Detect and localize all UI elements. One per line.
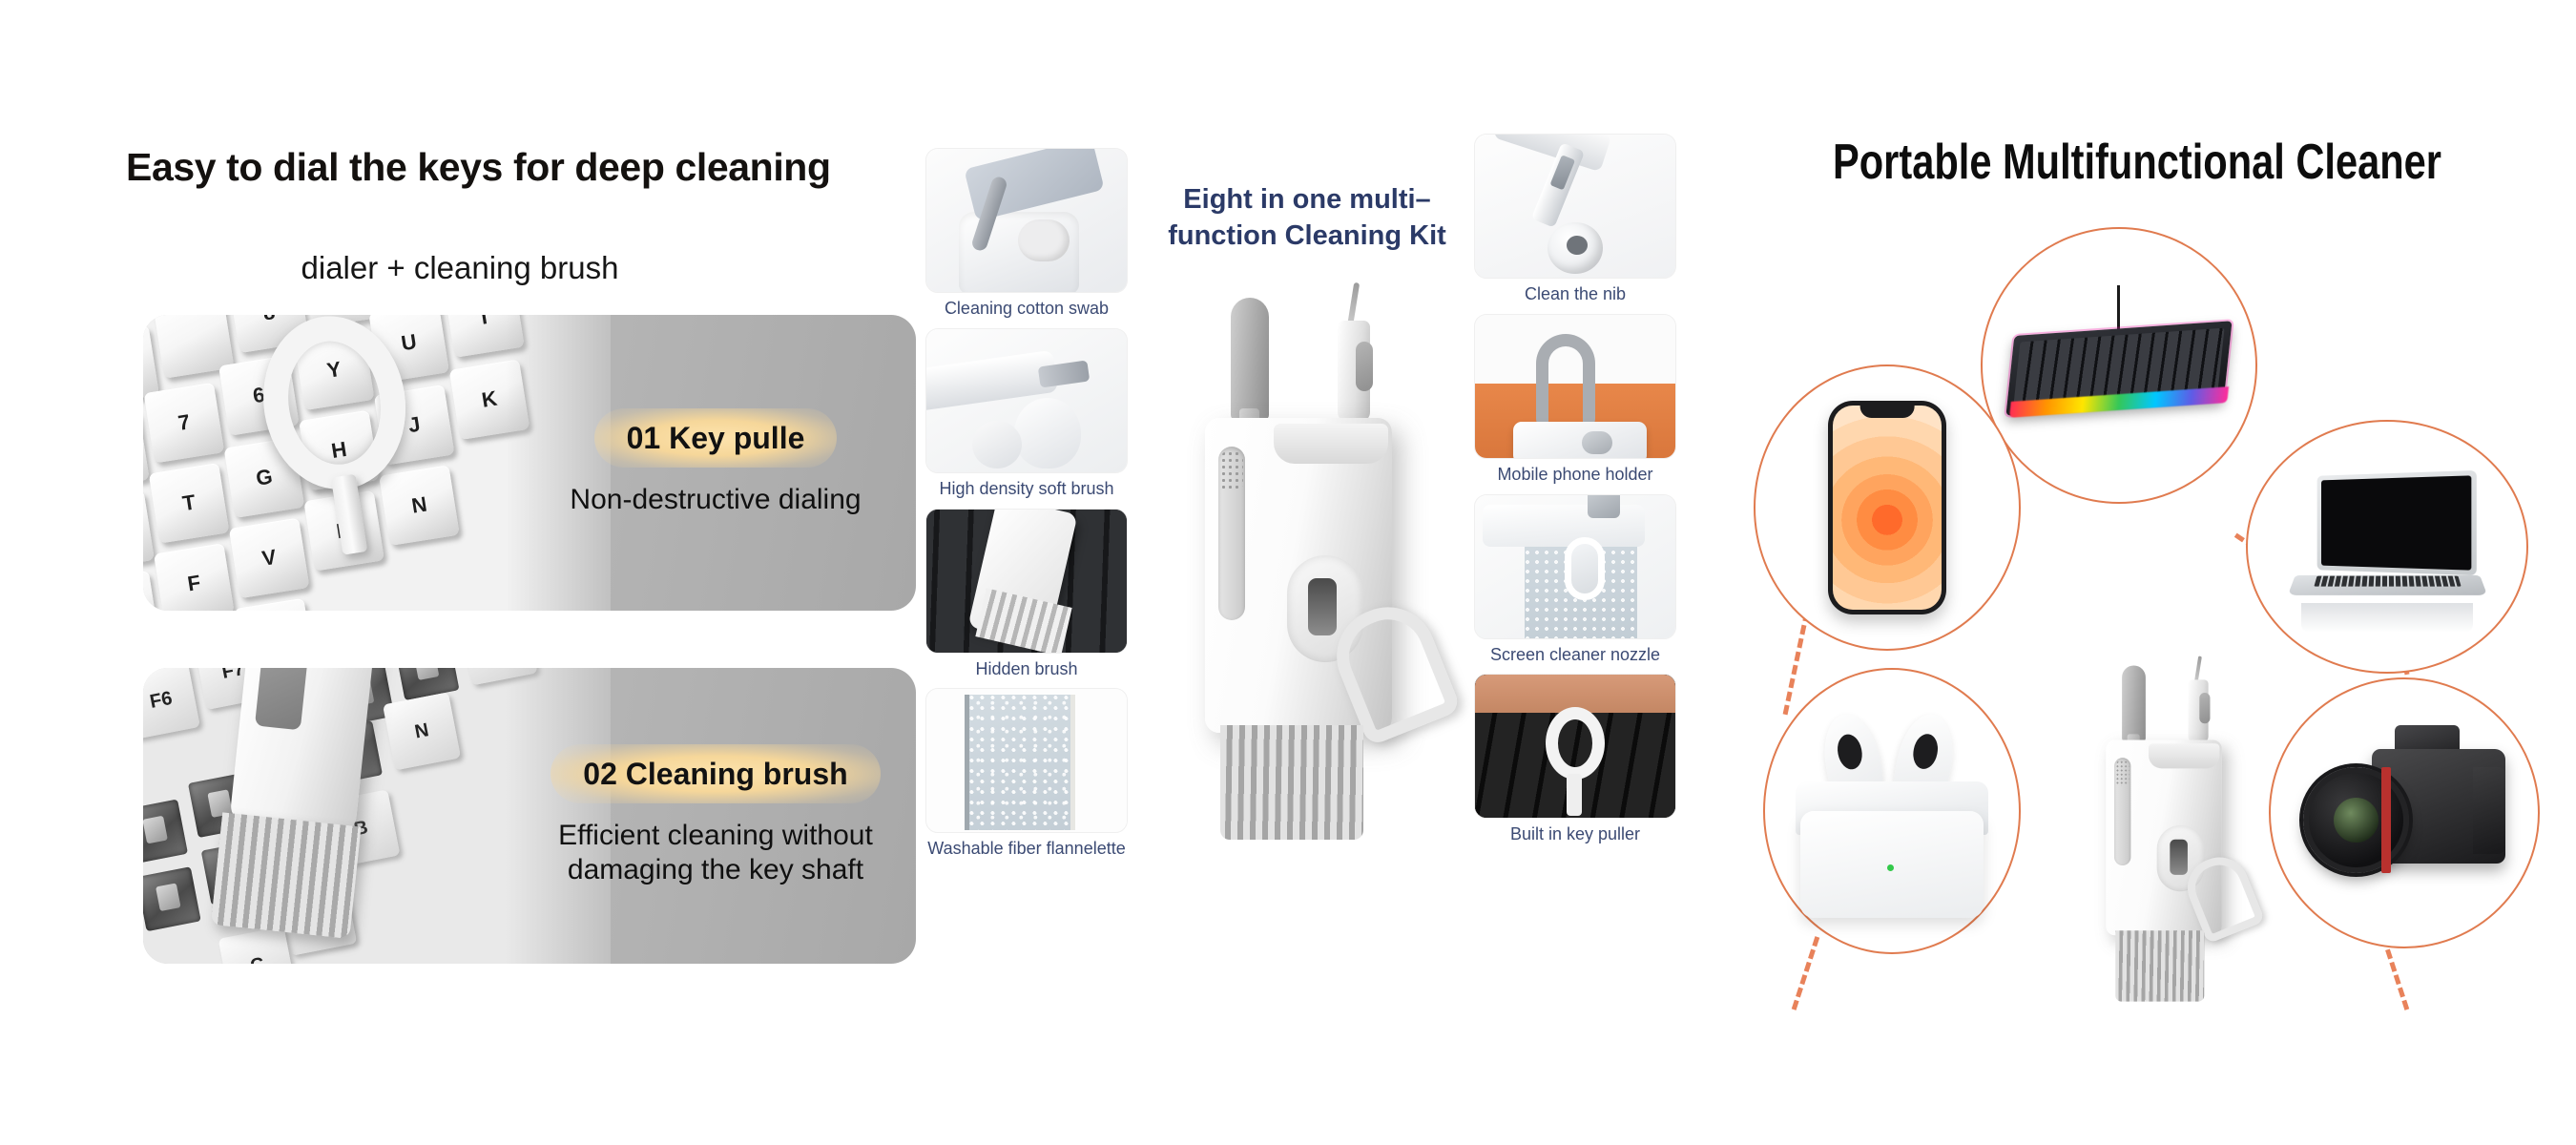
card-1-description: Non-destructive dialing <box>570 483 861 517</box>
thumb-caption: Screen cleaner nozzle <box>1474 639 1676 665</box>
thumbnail-washable-fiber-flannelette: Washable fiber flannelette <box>925 688 1128 859</box>
hero-product-right <box>2089 658 2196 913</box>
left-feature-panel: Easy to dial the keys for deep cleaning … <box>0 0 935 1145</box>
bottom-brush <box>1220 725 1363 840</box>
sponge-tip <box>1231 298 1269 420</box>
feature-card-cleaning-brush: F5 F6 F7 M N <box>143 668 916 964</box>
thumb-image <box>1474 494 1676 639</box>
smartphone-icon <box>1774 386 2000 630</box>
product-infographic: Easy to dial the keys for deep cleaning … <box>0 0 2576 1145</box>
bubble-smartphone <box>1754 364 2021 651</box>
card-2-body: 02 Cleaning brush Efficient cleaning wit… <box>515 668 916 964</box>
thumbnail-screen-cleaner-nozzle: Screen cleaner nozzle <box>1474 494 1676 665</box>
bubble-mechanical-keyboard <box>1981 227 2257 504</box>
bubble-dslr-camera <box>2269 677 2540 948</box>
dslr-camera-icon <box>2290 698 2520 928</box>
thumb-image <box>1474 674 1676 819</box>
bubble-laptop <box>2246 420 2528 674</box>
wireless-earbuds-icon <box>1783 690 2002 933</box>
thumb-image <box>1474 314 1676 459</box>
thumb-image <box>925 509 1128 654</box>
card-2-description: Efficient cleaning without damaging the … <box>536 819 895 887</box>
thumbnail-clean-the-nib: Clean the nib <box>1474 134 1676 304</box>
thumb-caption: Built in key puller <box>1474 819 1676 844</box>
mechanical-keyboard-icon <box>2002 248 2236 483</box>
thumb-caption: Washable fiber flannelette <box>925 833 1128 859</box>
left-panel-subtitle: dialer + cleaning brush <box>126 250 794 286</box>
right-panel-title: Portable Multifunctional Cleaner <box>1801 134 2473 191</box>
bottom-brush <box>2115 930 2204 1001</box>
sponge-tip <box>2122 665 2146 740</box>
card-2-pill-label: 02 Cleaning brush <box>551 744 880 803</box>
thumb-caption: Mobile phone holder <box>1474 459 1676 485</box>
left-thumbnail-column: Cleaning cotton swab High density soft b… <box>925 148 1128 868</box>
thumb-image <box>1474 134 1676 279</box>
card-1-body: 01 Key pulle Non-destructive dialing <box>515 315 916 611</box>
thumb-caption: High density soft brush <box>925 473 1128 499</box>
thumbnail-built-in-key-puller: Built in key puller <box>1474 674 1676 844</box>
thumb-caption: Hidden brush <box>925 654 1128 679</box>
right-thumbnail-column: Clean the nib Mobile phone holder Screen… <box>1474 134 1676 854</box>
brush-tool-icon <box>177 668 430 964</box>
middle-panel-title: Eight in one multi–function Cleaning Kit <box>1131 181 1484 255</box>
card-1-pill-label: 01 Key pulle <box>594 408 838 468</box>
thumbnail-high-density-soft-brush: High density soft brush <box>925 328 1128 499</box>
thumb-image <box>925 148 1128 293</box>
feature-card-key-puller: F6 8 * 9 0 % 7 6 Y U I 5 T G H J <box>143 315 916 611</box>
thumb-image <box>925 688 1128 833</box>
laptop-icon <box>2267 439 2506 654</box>
thumb-caption: Cleaning cotton swab <box>925 293 1128 319</box>
thumbnail-hidden-brush: Hidden brush <box>925 509 1128 679</box>
thumbnail-mobile-phone-holder: Mobile phone holder <box>1474 314 1676 485</box>
thumb-image <box>925 328 1128 473</box>
thumbnail-cleaning-cotton-swab: Cleaning cotton swab <box>925 148 1128 319</box>
bubble-wireless-earbuds <box>1763 668 2021 954</box>
hero-product-center <box>1178 286 1465 954</box>
thumb-caption: Clean the nib <box>1474 279 1676 304</box>
left-panel-title: Easy to dial the keys for deep cleaning <box>126 145 927 190</box>
